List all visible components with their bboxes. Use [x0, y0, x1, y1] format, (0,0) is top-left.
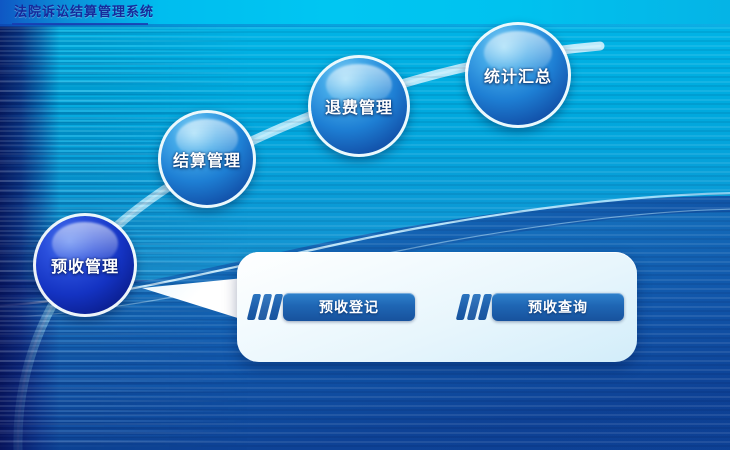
callout-pointer: [140, 276, 244, 322]
flow-node-prepay[interactable]: 预收管理: [33, 213, 137, 317]
application-window: 法院诉讼结算管理系统 预收登记 预收查询: [0, 0, 730, 450]
prepay-register-button[interactable]: 预收登记: [250, 293, 415, 321]
slash-bars-icon: [250, 294, 280, 320]
page-title: 法院诉讼结算管理系统: [14, 4, 154, 22]
flow-node-label: 统计汇总: [484, 63, 552, 87]
panel-button-row: 预收登记 预收查询: [237, 252, 637, 362]
prepay-query-button[interactable]: 预收查询: [459, 293, 624, 321]
prepay-register-label: 预收登记: [283, 293, 415, 321]
title-underline-rule: [12, 23, 148, 25]
flow-node-label: 结算管理: [173, 147, 241, 171]
flow-node-stats[interactable]: 统计汇总: [465, 22, 571, 128]
flow-node-settle[interactable]: 结算管理: [158, 110, 256, 208]
prepay-actions-panel: 预收登记 预收查询: [237, 252, 637, 362]
flow-node-label: 退费管理: [325, 94, 393, 118]
prepay-query-label: 预收查询: [492, 293, 624, 321]
flow-node-label: 预收管理: [51, 253, 119, 277]
flow-node-refund[interactable]: 退费管理: [308, 55, 410, 157]
slash-bars-icon: [459, 294, 489, 320]
